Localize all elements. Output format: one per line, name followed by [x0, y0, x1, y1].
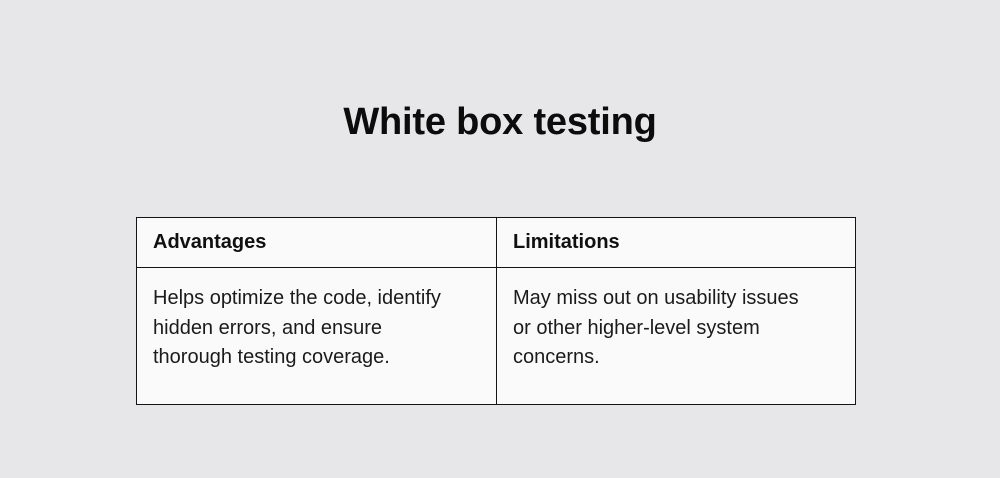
- page-title: White box testing: [0, 99, 1000, 145]
- slide-canvas: White box testing Advantages Limitations…: [0, 0, 1000, 478]
- column-header-limitations: Limitations: [497, 218, 856, 268]
- comparison-table-wrapper: Advantages Limitations Helps optimize th…: [136, 217, 855, 405]
- comparison-table: Advantages Limitations Helps optimize th…: [136, 217, 856, 405]
- table-header: Advantages Limitations: [137, 218, 856, 268]
- table-body: Helps optimize the code, identify hidden…: [137, 268, 856, 405]
- cell-advantages: Helps optimize the code, identify hidden…: [137, 268, 497, 405]
- cell-limitations-text: May miss out on usability issues or othe…: [513, 284, 813, 373]
- cell-limitations: May miss out on usability issues or othe…: [497, 268, 856, 405]
- column-header-advantages: Advantages: [137, 218, 497, 268]
- table-row: Helps optimize the code, identify hidden…: [137, 268, 856, 405]
- table-header-row: Advantages Limitations: [137, 218, 856, 268]
- cell-advantages-text: Helps optimize the code, identify hidden…: [153, 284, 453, 373]
